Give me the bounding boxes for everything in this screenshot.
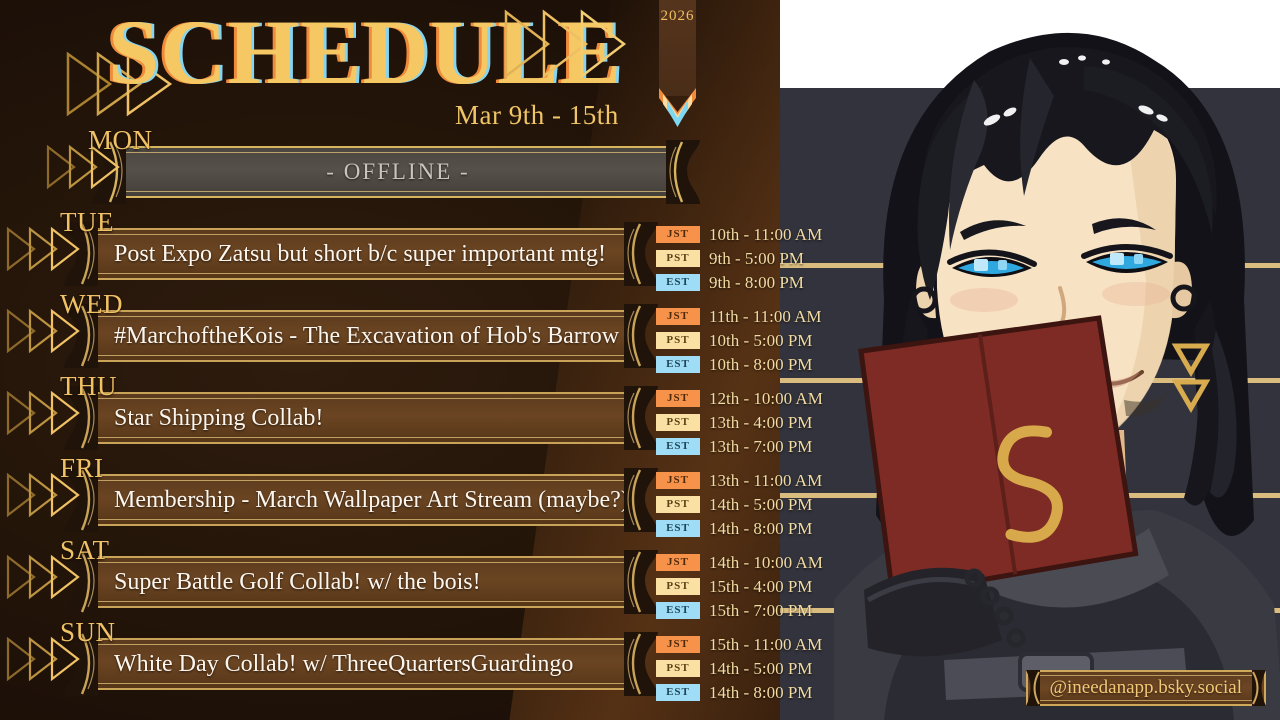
handle-cap-left [1026,670,1040,706]
timezone-line: EST 14th - 8:00 PM [656,682,822,703]
timezone-column: JST 12th - 10:00 AM PST 13th - 4:00 PM E… [656,388,823,460]
timezone-time: 9th - 8:00 PM [709,273,804,293]
event-plaque[interactable]: Post Expo Zatsu but short b/c super impo… [80,228,640,280]
timezone-badge-jst: JST [656,308,700,325]
timezone-line: JST 15th - 11:00 AM [656,634,822,655]
timezone-line: PST 15th - 4:00 PM [656,576,823,597]
social-handle-tag[interactable]: @ineedanapp.bsky.social [1026,670,1267,706]
year-ribbon: 2026 [655,0,700,125]
schedule-graphic: SCHEDULE Mar 9th - 15th 2026 MON [0,0,1280,720]
timezone-badge-jst: JST [656,390,700,407]
day-label-fri: FRI [60,453,104,484]
header: SCHEDULE Mar 9th - 15th 2026 [0,0,740,135]
timezone-time: 14th - 5:00 PM [709,659,812,679]
timezone-line: PST 10th - 5:00 PM [656,330,822,351]
timezone-line: EST 14th - 8:00 PM [656,518,822,539]
timezone-time: 12th - 10:00 AM [709,389,823,409]
timezone-line: EST 15th - 7:00 PM [656,600,823,621]
timezone-column: JST 11th - 11:00 AM PST 10th - 5:00 PM E… [656,306,822,378]
day-label-sun: SUN [60,617,116,648]
timezone-badge-est: EST [656,684,700,701]
timezone-line: EST 9th - 8:00 PM [656,272,822,293]
timezone-time: 14th - 8:00 PM [709,683,812,703]
page-title: SCHEDULE [108,6,622,98]
artwork-panel [780,0,1280,720]
schedule-row: WED #MarchoftheKois - The Excavation of … [0,290,830,372]
timezone-time: 10th - 8:00 PM [709,355,812,375]
timezone-time: 13th - 11:00 AM [709,471,822,491]
timezone-line: EST 13th - 7:00 PM [656,436,823,457]
day-label-wed: WED [60,289,123,320]
timezone-badge-jst: JST [656,472,700,489]
event-plaque[interactable]: - OFFLINE - [108,146,682,198]
timezone-line: PST 13th - 4:00 PM [656,412,823,433]
timezone-column: JST 15th - 11:00 AM PST 14th - 5:00 PM E… [656,634,822,706]
timezone-time: 10th - 11:00 AM [709,225,822,245]
timezone-line: PST 14th - 5:00 PM [656,494,822,515]
event-title: #MarchoftheKois - The Excavation of Hob'… [114,312,612,360]
timezone-time: 9th - 5:00 PM [709,249,804,269]
timezone-time: 15th - 7:00 PM [709,601,812,621]
day-label-tue: TUE [60,207,114,238]
schedule-list: MON - OFFLINE - TUE Post Expo Zatsu but … [0,126,830,700]
timezone-time: 14th - 5:00 PM [709,495,812,515]
timezone-column: JST 10th - 11:00 AM PST 9th - 5:00 PM ES… [656,224,822,296]
timezone-badge-est: EST [656,520,700,537]
timezone-line: EST 10th - 8:00 PM [656,354,822,375]
timezone-line: JST 13th - 11:00 AM [656,470,822,491]
timezone-badge-est: EST [656,438,700,455]
handle-text: @ineedanapp.bsky.social [1050,677,1243,699]
timezone-time: 11th - 11:00 AM [709,307,822,327]
timezone-line: JST 10th - 11:00 AM [656,224,822,245]
event-plaque[interactable]: #MarchoftheKois - The Excavation of Hob'… [80,310,640,362]
handle-cap-right [1252,670,1266,706]
timezone-line: PST 9th - 5:00 PM [656,248,822,269]
timezone-badge-pst: PST [656,578,700,595]
timezone-badge-est: EST [656,274,700,291]
timezone-line: JST 12th - 10:00 AM [656,388,823,409]
event-title: White Day Collab! w/ ThreeQuartersGuardi… [114,640,612,688]
day-label-sat: SAT [60,535,110,566]
character-illustration [824,0,1280,720]
timezone-time: 15th - 11:00 AM [709,635,822,655]
timezone-badge-jst: JST [656,636,700,653]
timezone-column: JST 13th - 11:00 AM PST 14th - 5:00 PM E… [656,470,822,542]
event-plaque[interactable]: White Day Collab! w/ ThreeQuartersGuardi… [80,638,640,690]
timezone-badge-jst: JST [656,226,700,243]
schedule-row: TUE Post Expo Zatsu but short b/c super … [0,208,830,290]
timezone-badge-pst: PST [656,496,700,513]
event-plaque[interactable]: Super Battle Golf Collab! w/ the bois! [80,556,640,608]
schedule-row: MON - OFFLINE - [0,126,830,208]
timezone-badge-pst: PST [656,414,700,431]
timezone-badge-est: EST [656,356,700,373]
timezone-badge-est: EST [656,602,700,619]
schedule-row: FRI Membership - March Wallpaper Art Str… [0,454,830,536]
timezone-time: 14th - 8:00 PM [709,519,812,539]
timezone-badge-jst: JST [656,554,700,571]
schedule-row: SAT Super Battle Golf Collab! w/ the boi… [0,536,830,618]
event-title: Super Battle Golf Collab! w/ the bois! [114,558,612,606]
event-plaque[interactable]: Membership - March Wallpaper Art Stream … [80,474,640,526]
schedule-row: THU Star Shipping Collab! JST 12th - 10:… [0,372,830,454]
timezone-time: 10th - 5:00 PM [709,331,812,351]
event-title: Post Expo Zatsu but short b/c super impo… [114,230,612,278]
timezone-time: 14th - 10:00 AM [709,553,823,573]
year-label: 2026 [655,6,700,27]
event-title: Membership - March Wallpaper Art Stream … [114,476,612,524]
event-plaque[interactable]: Star Shipping Collab! [80,392,640,444]
timezone-badge-pst: PST [656,332,700,349]
timezone-column: JST 14th - 10:00 AM PST 15th - 4:00 PM E… [656,552,823,624]
timezone-line: JST 11th - 11:00 AM [656,306,822,327]
timezone-time: 13th - 7:00 PM [709,437,812,457]
timezone-badge-pst: PST [656,660,700,677]
timezone-badge-pst: PST [656,250,700,267]
day-label-thu: THU [60,371,117,402]
day-label-mon: MON [88,125,153,156]
timezone-time: 15th - 4:00 PM [709,577,812,597]
event-title: Star Shipping Collab! [114,394,612,442]
timezone-time: 13th - 4:00 PM [709,413,812,433]
schedule-row: SUN White Day Collab! w/ ThreeQuartersGu… [0,618,830,700]
timezone-line: JST 14th - 10:00 AM [656,552,823,573]
event-title: - OFFLINE - [142,148,654,196]
timezone-line: PST 14th - 5:00 PM [656,658,822,679]
